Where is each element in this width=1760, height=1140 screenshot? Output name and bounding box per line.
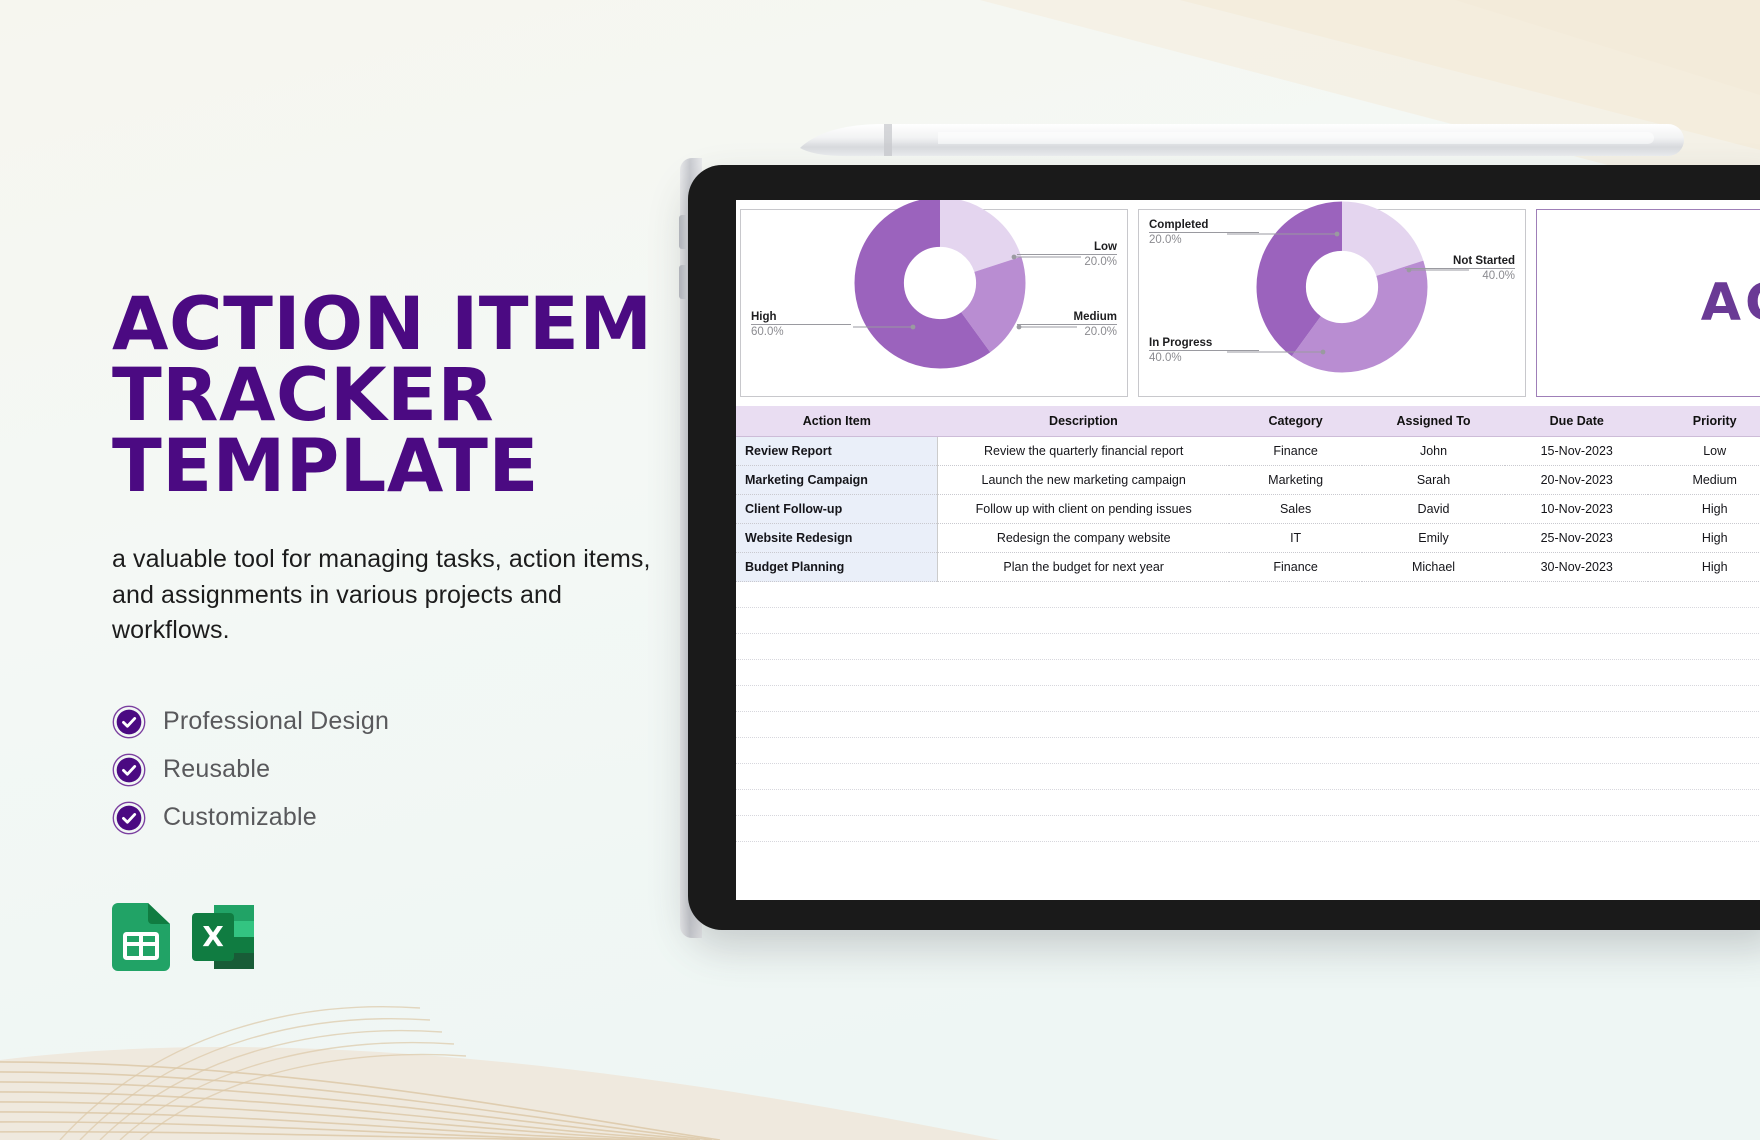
table-header-row: Action Item Description Category Assigne… <box>736 406 1760 437</box>
cell-action-item[interactable]: Review Report <box>736 437 938 466</box>
status-donut-chart: Completed 20.0% Not Started 40.0% In Pro… <box>1138 209 1526 397</box>
chart-label-in-progress: In Progress 40.0% <box>1149 336 1259 366</box>
cell-assigned-to[interactable]: John <box>1362 437 1505 466</box>
cell-due-date[interactable]: 20-Nov-2023 <box>1505 466 1648 495</box>
tablet-volume-button-up[interactable] <box>679 215 687 249</box>
cell-due-date[interactable]: 15-Nov-2023 <box>1505 437 1648 466</box>
cell-assigned-to[interactable]: David <box>1362 495 1505 524</box>
column-header-due-date[interactable]: Due Date <box>1505 406 1648 437</box>
cell-description[interactable]: Plan the budget for next year <box>938 553 1230 582</box>
charts-row: High 60.0% Low 20.0% Medium 20.0% <box>736 200 1760 397</box>
table-row[interactable]: Website Redesign Redesign the company we… <box>736 524 1760 553</box>
empty-row[interactable] <box>736 790 1760 816</box>
hero-subtitle: a valuable tool for managing tasks, acti… <box>112 542 652 649</box>
cell-description[interactable]: Follow up with client on pending issues <box>938 495 1230 524</box>
list-item: Professional Design <box>112 705 732 739</box>
empty-row[interactable] <box>736 582 1760 608</box>
table-row[interactable]: Client Follow-up Follow up with client o… <box>736 495 1760 524</box>
cell-category[interactable]: IT <box>1229 524 1362 553</box>
column-header-action-item[interactable]: Action Item <box>736 406 938 437</box>
cell-assigned-to[interactable]: Emily <box>1362 524 1505 553</box>
cell-due-date[interactable]: 25-Nov-2023 <box>1505 524 1648 553</box>
cell-description[interactable]: Launch the new marketing campaign <box>938 466 1230 495</box>
google-sheets-logo[interactable] <box>112 903 170 971</box>
svg-text:X: X <box>202 920 224 953</box>
hero-panel: ACTION ITEM TRACKER TEMPLATE a valuable … <box>112 290 732 971</box>
empty-row[interactable] <box>736 660 1760 686</box>
empty-row[interactable] <box>736 712 1760 738</box>
feature-list: Professional Design Reusable Customizabl… <box>112 705 732 835</box>
tablet-screen: High 60.0% Low 20.0% Medium 20.0% <box>736 200 1760 900</box>
column-header-description[interactable]: Description <box>938 406 1230 437</box>
cell-due-date[interactable]: 10-Nov-2023 <box>1505 495 1648 524</box>
microsoft-excel-logo[interactable]: X <box>192 903 254 971</box>
feature-label: Professional Design <box>163 707 389 736</box>
chart-label-low: Low 20.0% <box>1017 240 1117 270</box>
third-panel: AC <box>1536 209 1760 397</box>
page-title: ACTION ITEM TRACKER TEMPLATE <box>112 290 732 502</box>
empty-grid-rows <box>736 582 1760 842</box>
cell-description[interactable]: Redesign the company website <box>938 524 1230 553</box>
cell-due-date[interactable]: 30-Nov-2023 <box>1505 553 1648 582</box>
feature-label: Reusable <box>163 755 270 784</box>
chart-label-high: High 60.0% <box>751 310 851 340</box>
table-row[interactable]: Review Report Review the quarterly finan… <box>736 437 1760 466</box>
cell-category[interactable]: Finance <box>1229 553 1362 582</box>
status-badge[interactable]: High <box>1648 495 1760 524</box>
cell-action-item[interactable]: Budget Planning <box>736 553 938 582</box>
status-badge[interactable]: High <box>1648 553 1760 582</box>
status-badge[interactable]: Low <box>1648 437 1760 466</box>
chart-label-not-started: Not Started 40.0% <box>1405 254 1515 284</box>
cell-assigned-to[interactable]: Sarah <box>1362 466 1505 495</box>
check-circle-icon <box>112 705 146 739</box>
cell-action-item[interactable]: Marketing Campaign <box>736 466 938 495</box>
action-items-table: Action Item Description Category Assigne… <box>736 406 1760 582</box>
list-item: Reusable <box>112 753 732 787</box>
column-header-assigned-to[interactable]: Assigned To <box>1362 406 1505 437</box>
check-circle-icon <box>112 753 146 787</box>
empty-row[interactable] <box>736 738 1760 764</box>
third-panel-title: AC <box>1701 273 1760 333</box>
cell-action-item[interactable]: Website Redesign <box>736 524 938 553</box>
empty-row[interactable] <box>736 608 1760 634</box>
empty-row[interactable] <box>736 816 1760 842</box>
cell-category[interactable]: Marketing <box>1229 466 1362 495</box>
cell-description[interactable]: Review the quarterly financial report <box>938 437 1230 466</box>
column-header-category[interactable]: Category <box>1229 406 1362 437</box>
check-circle-icon <box>112 801 146 835</box>
feature-label: Customizable <box>163 803 317 832</box>
cell-category[interactable]: Finance <box>1229 437 1362 466</box>
empty-row[interactable] <box>736 686 1760 712</box>
list-item: Customizable <box>112 801 732 835</box>
column-header-priority[interactable]: Priority <box>1648 406 1760 437</box>
status-badge[interactable]: Medium <box>1648 466 1760 495</box>
cell-action-item[interactable]: Client Follow-up <box>736 495 938 524</box>
table-row[interactable]: Marketing Campaign Launch the new market… <box>736 466 1760 495</box>
table-row[interactable]: Budget Planning Plan the budget for next… <box>736 553 1760 582</box>
empty-row[interactable] <box>736 764 1760 790</box>
status-badge[interactable]: High <box>1648 524 1760 553</box>
callout-leader-lines <box>741 210 1129 398</box>
chart-label-medium: Medium 20.0% <box>1017 310 1117 340</box>
file-format-logos: X <box>112 903 732 971</box>
cell-category[interactable]: Sales <box>1229 495 1362 524</box>
cell-assigned-to[interactable]: Michael <box>1362 553 1505 582</box>
priority-donut-chart: High 60.0% Low 20.0% Medium 20.0% <box>740 209 1128 397</box>
chart-label-completed: Completed 20.0% <box>1149 218 1259 248</box>
empty-row[interactable] <box>736 634 1760 660</box>
